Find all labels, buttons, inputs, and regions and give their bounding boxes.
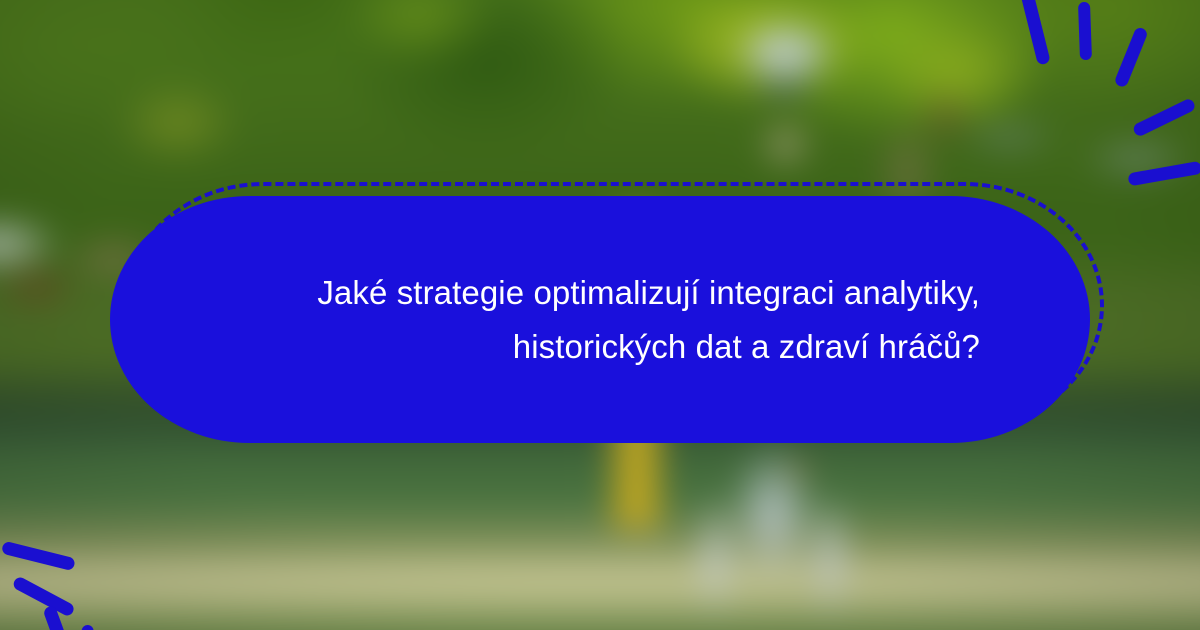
sparkle-stroke — [1, 541, 76, 572]
sparkle-burst-top-right — [1010, 0, 1200, 163]
speech-bubble: Jaké strategie optimalizují integraci an… — [110, 196, 1090, 443]
question-text: Jaké strategie optimalizují integraci an… — [180, 266, 1020, 373]
speech-bubble-container: Jaké strategie optimalizují integraci an… — [110, 196, 1090, 443]
sparkle-stroke — [1020, 0, 1051, 66]
quote-card: Jaké strategie optimalizují integraci an… — [0, 0, 1200, 630]
sparkle-stroke — [1078, 2, 1092, 60]
sparkle-burst-bottom-left — [0, 467, 190, 630]
sparkle-stroke — [1113, 26, 1148, 88]
sparkle-stroke — [1132, 97, 1197, 138]
sparkle-stroke — [78, 625, 94, 630]
